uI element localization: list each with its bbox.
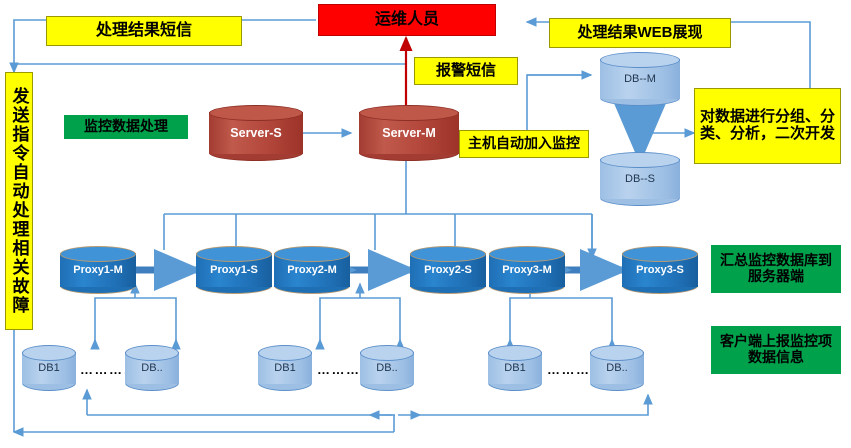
wire-tree1 — [95, 298, 176, 348]
node-label: Server-M — [359, 126, 459, 140]
label-data-analysis: 对数据进行分组、分类、分析，二次开发 — [694, 88, 841, 164]
node-client-db-3-last: DB.. — [590, 345, 644, 391]
node-label: DB.. — [125, 362, 179, 374]
node-label: Proxy2-M — [274, 264, 350, 276]
cyl-top — [600, 152, 680, 168]
node-label: Server-S — [209, 126, 303, 140]
cyl-top — [359, 105, 459, 121]
node-client-db-1-last: DB.. — [125, 345, 179, 391]
node-server-m: Server-M — [359, 105, 459, 161]
node-client-db-3-first: DB1 — [488, 345, 542, 391]
cyl-top — [489, 246, 565, 262]
cyl-top — [488, 345, 542, 361]
cyl-top — [125, 345, 179, 361]
node-db-m: DB--M — [600, 52, 680, 106]
node-proxy1-m: Proxy1-M — [60, 246, 136, 294]
cyl-top — [410, 246, 486, 262]
label-host-auto-join: 主机自动加入监控 — [459, 130, 589, 158]
node-server-s: Server-S — [209, 105, 303, 161]
wire-tree3 — [510, 298, 612, 348]
cyl-top — [600, 52, 680, 68]
node-proxy2-s: Proxy2-S — [410, 246, 486, 294]
node-label: Proxy1-M — [60, 264, 136, 276]
cyl-top — [360, 345, 414, 361]
cyl-top — [258, 345, 312, 361]
node-label: DB.. — [590, 362, 644, 374]
node-label: DB--S — [600, 173, 680, 185]
node-proxy3-m: Proxy3-M — [489, 246, 565, 294]
node-label: DB--M — [600, 73, 680, 85]
node-label: Proxy2-S — [410, 264, 486, 276]
cyl-top — [196, 246, 272, 262]
node-label: Proxy3-S — [622, 264, 698, 276]
node-proxy3-s: Proxy3-S — [622, 246, 698, 294]
node-proxy1-s: Proxy1-S — [196, 246, 272, 294]
cyl-top — [590, 345, 644, 361]
cyl-top — [60, 246, 136, 262]
label-client-report: 客户端上报监控项数据信息 — [711, 326, 841, 374]
node-proxy2-m: Proxy2-M — [274, 246, 350, 294]
node-client-db-2-last: DB.. — [360, 345, 414, 391]
node-label: DB1 — [258, 362, 312, 374]
cyl-top — [209, 105, 303, 121]
wire-tree2 — [320, 298, 400, 348]
architecture-diagram: 处理结果短信 运维人员 处理结果WEB展现 报警短信 发送指令自动处理相关故障 … — [0, 0, 851, 448]
node-label: DB.. — [360, 362, 414, 374]
node-label: DB1 — [488, 362, 542, 374]
cyl-top — [22, 345, 76, 361]
label-ops-staff: 运维人员 — [318, 4, 496, 36]
wire-bottom-to-tree3 — [420, 395, 648, 415]
label-send-command: 发送指令自动处理相关故障 — [5, 72, 33, 330]
cyl-top — [622, 246, 698, 262]
label-monitor-data-process: 监控数据处理 — [64, 115, 188, 139]
node-label: Proxy1-S — [196, 264, 272, 276]
node-label: Proxy3-M — [489, 264, 565, 276]
label-web-result: 处理结果WEB展现 — [549, 18, 731, 48]
node-db-s: DB--S — [600, 152, 680, 206]
node-label: DB1 — [22, 362, 76, 374]
node-client-db-2-first: DB1 — [258, 345, 312, 391]
label-alarm-sms: 报警短信 — [414, 57, 518, 85]
node-client-db-1-first: DB1 — [22, 345, 76, 391]
label-aggregate-db: 汇总监控数据库到服务器端 — [711, 245, 841, 293]
cyl-top — [274, 246, 350, 262]
label-sms-result: 处理结果短信 — [46, 16, 242, 46]
